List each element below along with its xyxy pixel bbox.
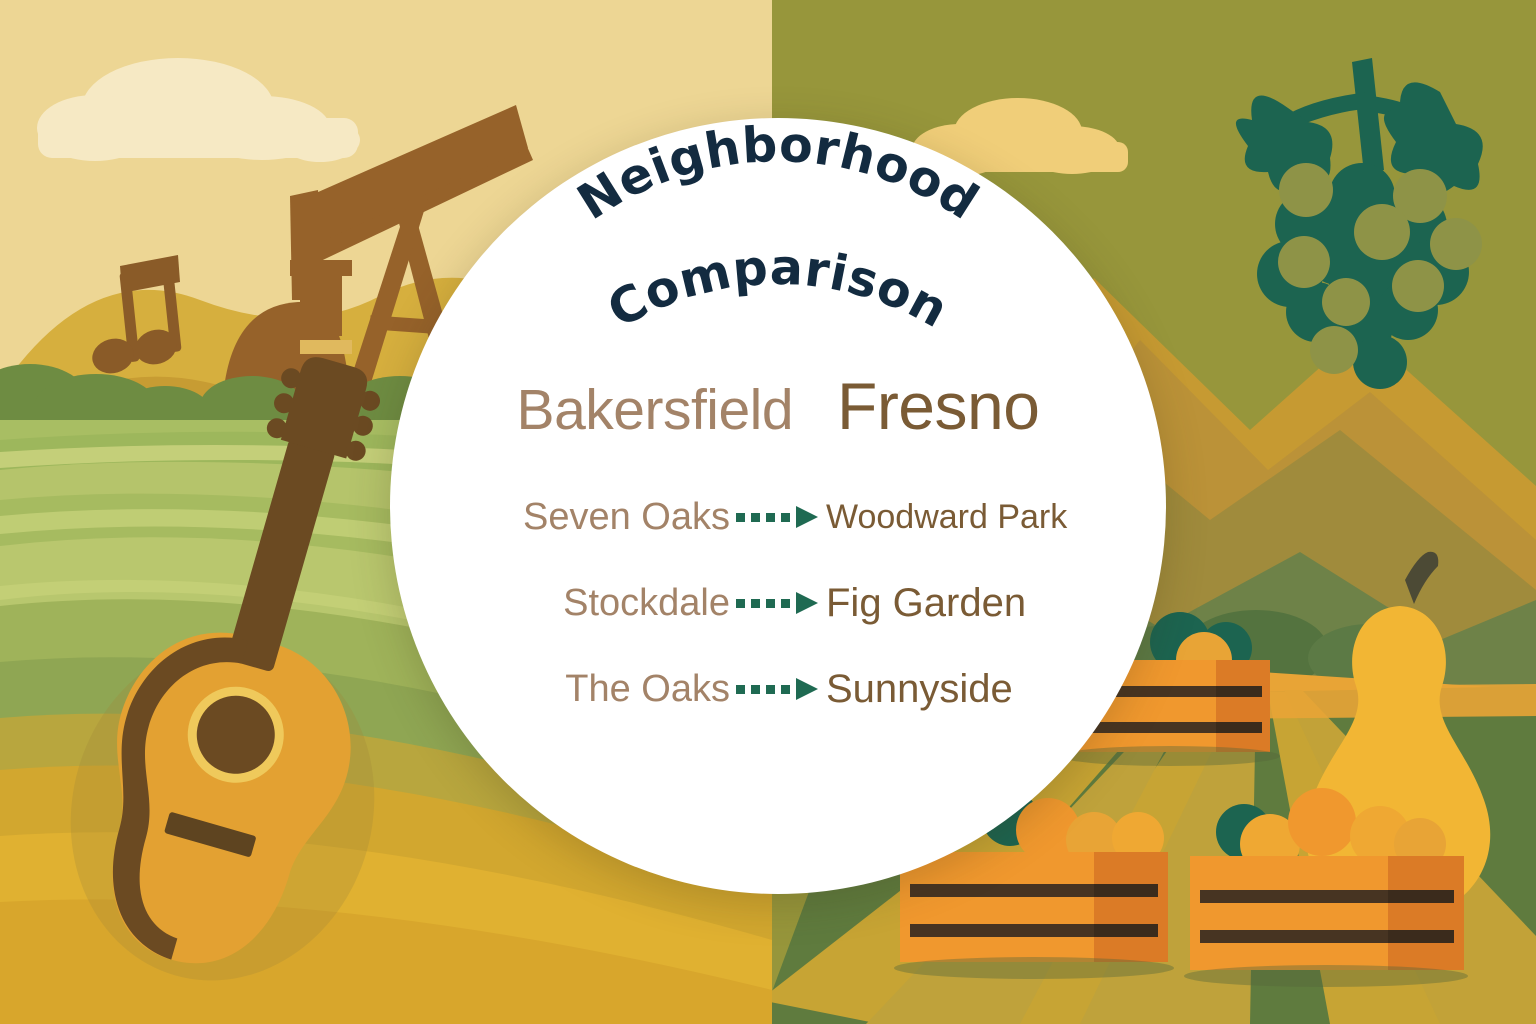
neighborhood-b-2: Sunnyside <box>820 667 1126 712</box>
dotted-arrow-right-icon <box>736 588 820 618</box>
city-b-label: Fresno <box>837 368 1039 444</box>
comparison-row: The Oaks Sunnyside <box>390 646 1166 732</box>
city-headers: Bakersfield Fresno <box>390 368 1166 444</box>
comparison-row: Stockdale Fig Garden <box>390 560 1166 646</box>
neighborhood-a-0: Seven Oaks <box>430 496 736 539</box>
dotted-arrow-right-icon <box>736 502 820 532</box>
neighborhood-a-1: Stockdale <box>430 582 736 625</box>
comparison-row: Seven Oaks Woodward Park <box>390 474 1166 560</box>
title-line-2: Comparison <box>598 239 957 339</box>
city-a-label: Bakersfield <box>517 377 793 443</box>
comparison-card: Neighborhood Comparison Bakersfield Fres… <box>390 118 1166 894</box>
comparison-rows: Seven Oaks Woodward Park Sto <box>390 474 1166 732</box>
neighborhood-b-1: Fig Garden <box>820 581 1126 626</box>
neighborhood-b-0: Woodward Park <box>820 498 1126 537</box>
pumpjack-detail <box>300 340 352 354</box>
infographic-canvas: Neighborhood Comparison Bakersfield Fres… <box>0 0 1536 1024</box>
title-line-1: Neighborhood <box>568 118 989 231</box>
dotted-arrow-right-icon <box>736 674 820 704</box>
neighborhood-a-2: The Oaks <box>430 668 736 711</box>
